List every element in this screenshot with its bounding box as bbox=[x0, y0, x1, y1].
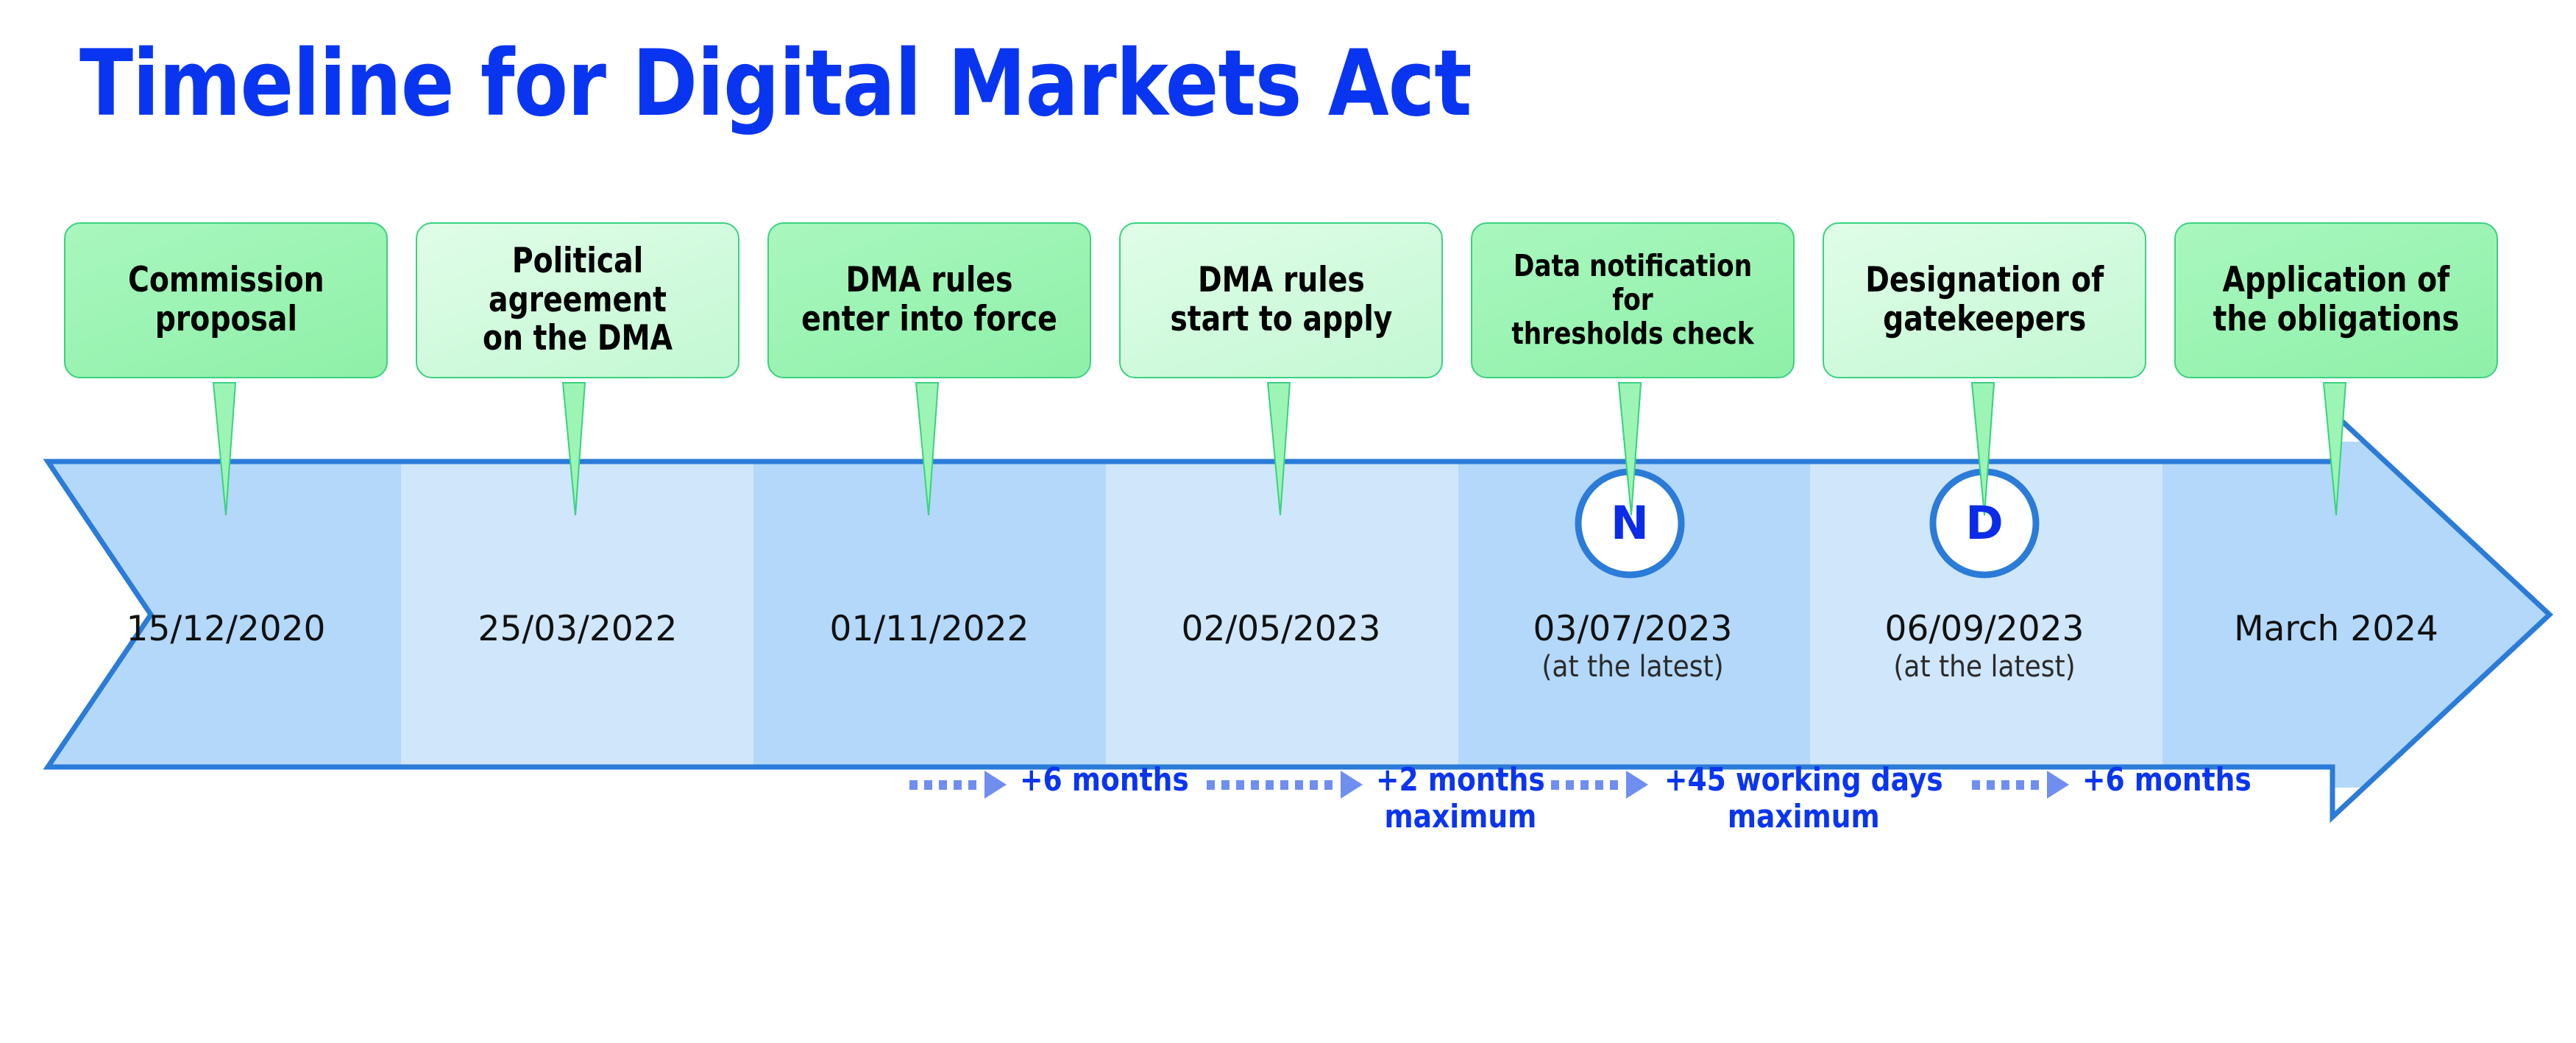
interval-label-1: +6 months bbox=[1020, 762, 1189, 799]
date-label-2: 25/03/2022 bbox=[416, 611, 739, 648]
marker-letter-d: D bbox=[1959, 501, 2010, 546]
callout-tail-4 bbox=[1268, 383, 1290, 515]
callout-label-3: DMA rulesenter into force bbox=[801, 261, 1057, 339]
interval-label-3: +45 working days maximum bbox=[1664, 762, 1943, 835]
dotted-arrow-icon-2 bbox=[1207, 771, 1363, 799]
marker-letter-n: N bbox=[1604, 501, 1656, 546]
date-value-5: 03/07/2023 bbox=[1533, 609, 1733, 649]
interval-label-4: +6 months bbox=[2082, 762, 2252, 799]
callout-tail-1 bbox=[213, 383, 235, 515]
dotted-arrow-icon-4 bbox=[1972, 771, 2069, 799]
date-label-1: 15/12/2020 bbox=[64, 611, 388, 648]
timeline-infographic: Timeline for Digital Markets Act bbox=[0, 0, 2576, 1043]
callout-rules-enter-into-force[interactable]: DMA rulesenter into force bbox=[767, 222, 1091, 378]
date-label-6: 06/09/2023 (at the latest) bbox=[1823, 611, 2146, 683]
callout-label-5: Data notification forthresholds check bbox=[1491, 250, 1775, 351]
callout-political-agreement[interactable]: Political agreementon the DMA bbox=[416, 222, 739, 378]
callout-tail-5 bbox=[1619, 383, 1641, 515]
callout-label-4: DMA rulesstart to apply bbox=[1170, 261, 1392, 339]
date-value-1: 15/12/2020 bbox=[127, 609, 326, 649]
date-value-7: March 2024 bbox=[2234, 609, 2438, 649]
callout-label-1: Commissionproposal bbox=[128, 261, 324, 339]
callout-tail-5-tip bbox=[1619, 383, 1641, 515]
dotted-arrow-icon-1 bbox=[909, 771, 1007, 799]
date-value-2: 25/03/2022 bbox=[478, 609, 678, 649]
callout-tail-3 bbox=[916, 383, 938, 515]
callout-designation-of-gatekeepers[interactable]: Designation ofgatekeepers bbox=[1823, 222, 2146, 378]
date-value-6: 06/09/2023 bbox=[1885, 609, 2084, 649]
date-value-3: 01/11/2022 bbox=[830, 609, 1029, 649]
date-note-5: (at the latest) bbox=[1471, 651, 1795, 683]
interval-annotation-3: +45 working days maximum bbox=[1551, 762, 1951, 835]
callout-label-2: Political agreementon the DMA bbox=[436, 242, 720, 358]
callout-tail-2 bbox=[563, 383, 585, 515]
callout-tail-7 bbox=[2324, 383, 2346, 515]
callout-label-7: Application ofthe obligations bbox=[2213, 261, 2460, 339]
callout-application-of-obligations[interactable]: Application ofthe obligations bbox=[2174, 222, 2498, 378]
callout-label-6: Designation ofgatekeepers bbox=[1865, 261, 2104, 339]
interval-annotation-4: +6 months bbox=[1972, 762, 2256, 799]
date-label-4: 02/05/2023 bbox=[1119, 611, 1443, 648]
date-note-6: (at the latest) bbox=[1823, 651, 2146, 683]
callout-tails bbox=[213, 383, 2346, 515]
page-title: Timeline for Digital Markets Act bbox=[79, 38, 1472, 130]
callout-rules-start-to-apply[interactable]: DMA rulesstart to apply bbox=[1119, 222, 1443, 378]
interval-annotation-2: +2 months maximum bbox=[1207, 762, 1550, 835]
callout-tail-6-tip bbox=[1972, 383, 1994, 515]
date-label-7: March 2024 bbox=[2174, 611, 2498, 648]
callout-commission-proposal[interactable]: Commissionproposal bbox=[64, 222, 388, 378]
interval-label-2: +2 months maximum bbox=[1376, 762, 1545, 835]
date-value-4: 02/05/2023 bbox=[1182, 609, 1381, 649]
callout-data-notification[interactable]: Data notification forthresholds check bbox=[1471, 222, 1795, 378]
dotted-arrow-icon-3 bbox=[1551, 771, 1648, 799]
date-label-5: 03/07/2023 (at the latest) bbox=[1471, 611, 1795, 683]
callout-tail-6 bbox=[1972, 383, 1994, 515]
date-label-3: 01/11/2022 bbox=[767, 611, 1091, 648]
interval-annotation-1: +6 months bbox=[909, 762, 1193, 799]
timeline-arrow-band bbox=[0, 0, 2576, 1043]
